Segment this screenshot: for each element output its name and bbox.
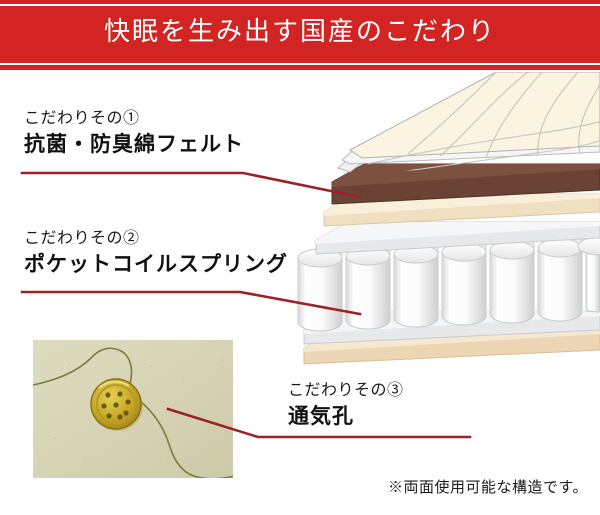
coil-cylinder: [442, 243, 486, 325]
header-banner: 快眠を生み出す国産のこだわり: [0, 0, 600, 70]
mattress-diagram: [290, 72, 600, 372]
footnote: ※両面使用可能な構造です。: [388, 476, 588, 497]
callout-3-sub: こだわりその③: [288, 380, 404, 402]
banner-rule-bottom: [0, 63, 600, 65]
air-vent-photo: [33, 340, 233, 478]
page-title: 快眠を生み出す国産のこだわり: [0, 12, 600, 52]
callout-3-main: 通気孔: [288, 402, 404, 430]
callout-2-main: ポケットコイルスプリング: [24, 250, 288, 278]
callout-pocket-coil: こだわりその② ポケットコイルスプリング: [24, 228, 288, 278]
coil-cylinder: [298, 249, 342, 331]
callout-air-vent: こだわりその③ 通気孔: [288, 380, 404, 430]
callout-1-main: 抗菌・防臭綿フェルト: [24, 130, 244, 158]
callout-2-sub: こだわりその②: [24, 228, 288, 250]
infographic-page: 快眠を生み出す国産のこだわり: [0, 0, 600, 515]
coil-cylinder: [346, 247, 390, 329]
callout-1-sub: こだわりその①: [24, 108, 244, 130]
banner-rule-top: [0, 4, 600, 6]
coil-cylinder: [490, 241, 534, 323]
layer-quilted-cover: [338, 72, 600, 174]
callout-felt: こだわりその① 抗菌・防臭綿フェルト: [24, 108, 244, 158]
coil-cylinder: [394, 245, 438, 327]
coil-cylinder: [538, 239, 582, 321]
